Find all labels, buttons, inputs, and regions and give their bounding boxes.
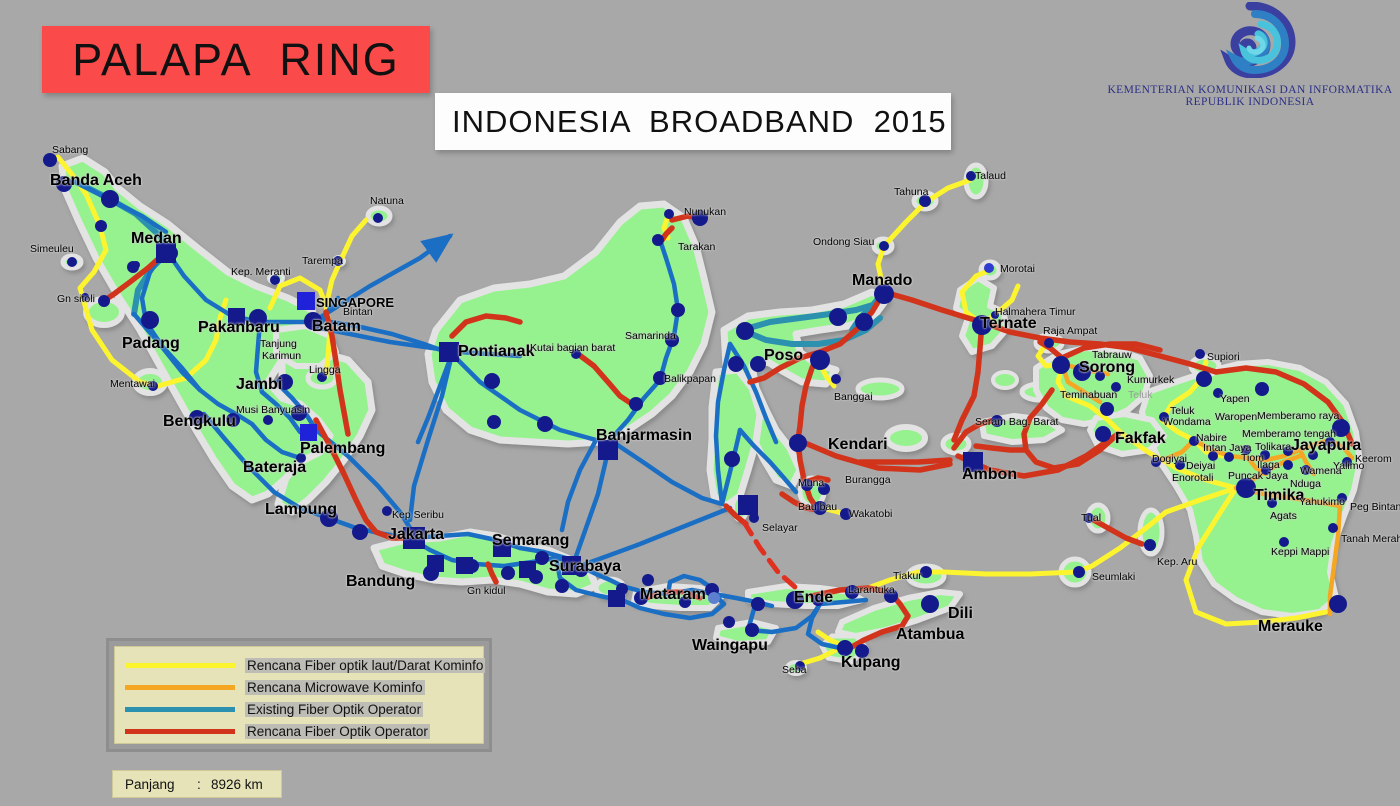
kominfo-logo-block: KEMENTERIAN KOMUNIKASI DAN INFORMATIKA R…	[1105, 2, 1395, 108]
legend-label-3: Rencana Fiber Optik Operator	[245, 724, 430, 739]
red-kendari-ambon	[798, 440, 950, 470]
island-banggai	[858, 380, 902, 398]
subtitle-banner: INDONESIA BROADBAND 2015	[435, 93, 951, 150]
legend-inner: Rencana Fiber optik laut/Darat KominfoRe…	[114, 646, 484, 744]
legend-swatch-0	[125, 663, 235, 668]
island-papua-birdhead	[1036, 348, 1150, 424]
kominfo-wave-globe-icon	[1195, 2, 1305, 78]
panjang-label: Panjang	[113, 777, 197, 792]
legend-item-1: Rencana Microwave Kominfo	[125, 676, 473, 698]
legend-swatch-3	[125, 729, 235, 734]
legend-item-0: Rencana Fiber optik laut/Darat Kominfo	[125, 654, 473, 676]
legend-swatch-1	[125, 685, 235, 690]
link-seumlaki-tiakur	[918, 572, 1076, 574]
red-papua-west-loop	[976, 446, 1026, 450]
bb-banjarmasin-makassar	[610, 440, 722, 504]
island-buru	[887, 427, 925, 449]
logo-caption-line2: REPUBLIK INDONESIA	[1105, 96, 1395, 108]
legend-rows: Rencana Fiber optik laut/Darat KominfoRe…	[125, 654, 473, 742]
title-banner: PALAPA RING	[42, 26, 430, 93]
legend-box: Rencana Fiber optik laut/Darat KominfoRe…	[106, 638, 492, 752]
island-seram-bagbarat2	[993, 372, 1017, 388]
dashed-selayar-ende	[744, 522, 796, 588]
map-canvas: PALAPA RING INDONESIA BROADBAND 2015 KEM…	[0, 0, 1400, 806]
legend-label-0: Rencana Fiber optik laut/Darat Kominfo	[245, 658, 485, 673]
bb-surabaya-makassar	[580, 508, 730, 566]
red-ambon-west	[860, 460, 950, 462]
legend-item-3: Rencana Fiber Optik Operator	[125, 720, 473, 742]
panjang-value: 8926 km	[211, 777, 263, 792]
legend-item-2: Existing Fiber Optik Operator	[125, 698, 473, 720]
page-title: PALAPA RING	[72, 34, 399, 86]
logo-caption-line1: KEMENTERIAN KOMUNIKASI DAN INFORMATIKA	[1105, 84, 1395, 96]
legend-label-1: Rencana Microwave Kominfo	[245, 680, 425, 695]
legend-swatch-2	[125, 707, 235, 712]
panjang-box: Panjang : 8926 km	[112, 770, 282, 798]
bb-batam-north-arrow	[316, 236, 450, 320]
legend-label-2: Existing Fiber Optik Operator	[245, 702, 423, 717]
panjang-separator: :	[197, 777, 211, 792]
page-subtitle: INDONESIA BROADBAND 2015	[435, 104, 947, 140]
link-keparu-seumlaki	[1076, 528, 1146, 572]
